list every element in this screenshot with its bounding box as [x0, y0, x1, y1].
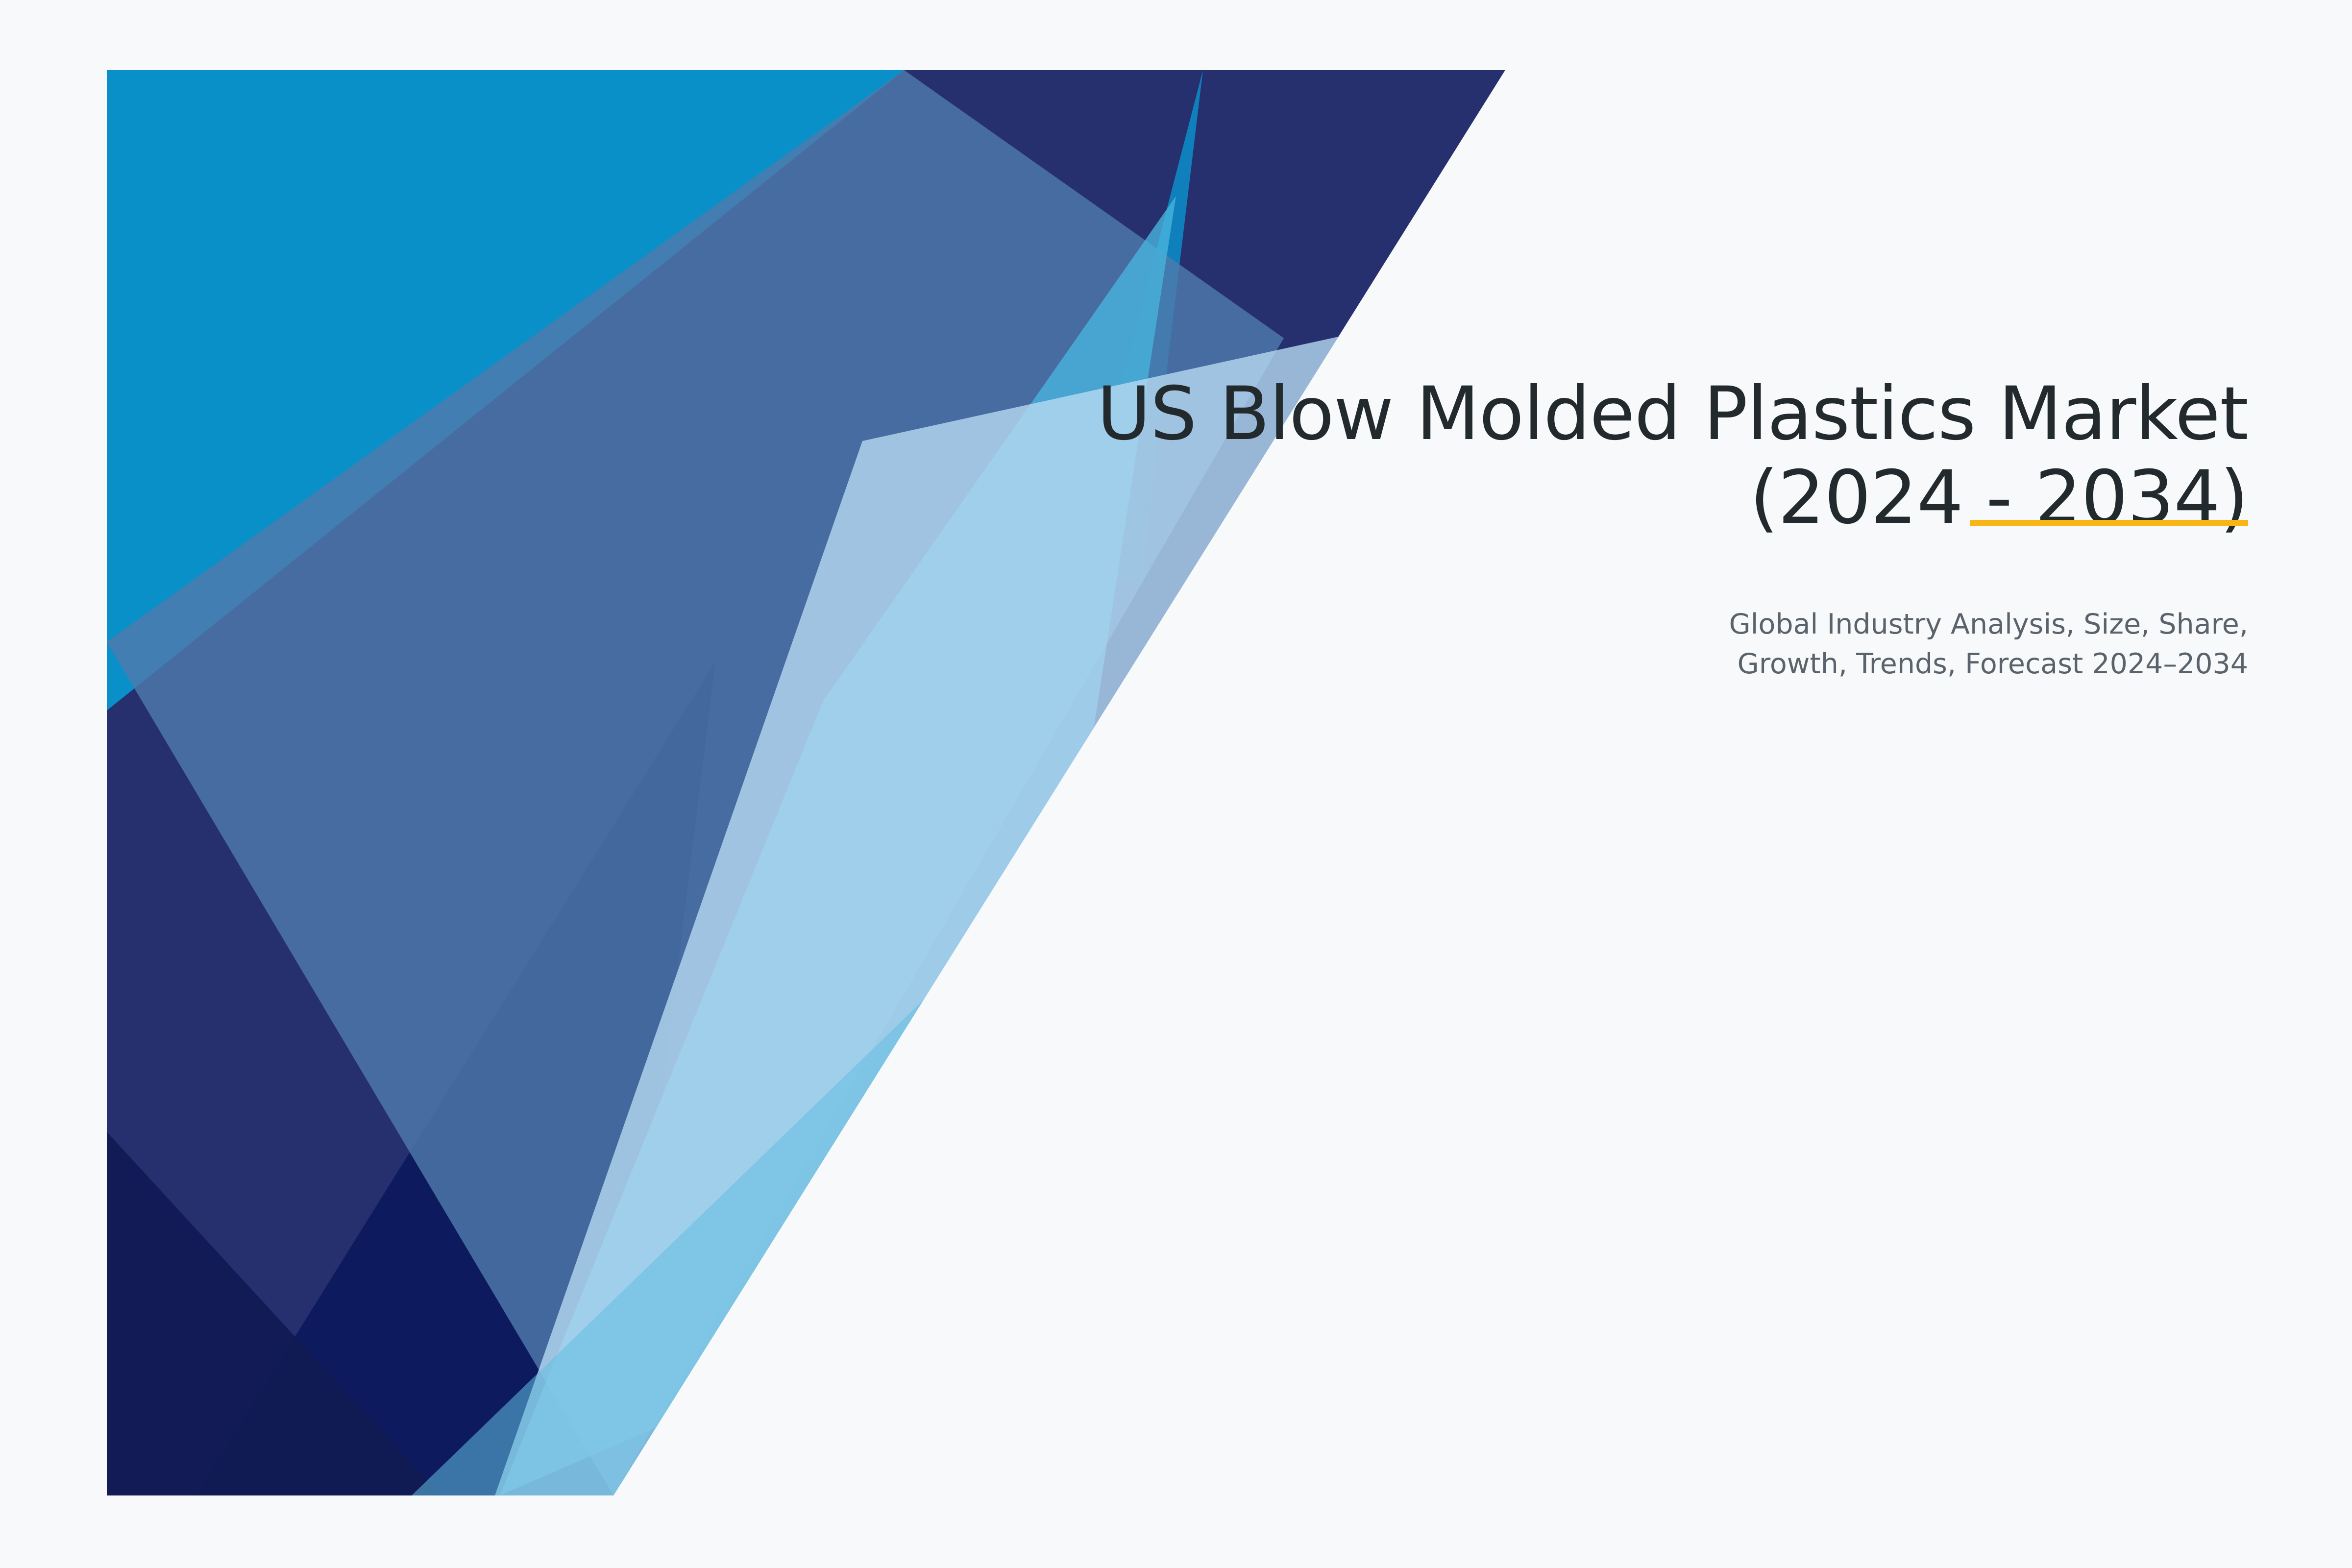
cover-artwork — [0, 0, 2352, 1568]
title-line-1: US Blow Molded Plastics Market — [964, 372, 2248, 456]
accent-underline — [1970, 520, 2248, 526]
subtitle-line-2: Growth, Trends, Forecast 2024–2034 — [964, 644, 2248, 684]
page-subtitle: Global Industry Analysis, Size, Share, G… — [964, 605, 2248, 684]
cover-text-block: US Blow Molded Plastics Market (2024 - 2… — [964, 372, 2248, 684]
shape-sky-sliver — [412, 931, 995, 1495]
shape-cyan-top-left — [107, 70, 904, 710]
shape-slate-quad — [107, 70, 1284, 1495]
shape-deep-navy-wedge — [196, 661, 715, 1495]
shape-deep-navy-lower — [107, 1132, 441, 1495]
title-line-2: (2024 - 2034) — [964, 456, 2248, 540]
page-title: US Blow Molded Plastics Market (2024 - 2… — [964, 372, 2248, 540]
shape-navy-base — [107, 70, 1505, 1495]
subtitle-line-1: Global Industry Analysis, Size, Share, — [964, 605, 2248, 644]
report-cover: US Blow Molded Plastics Market (2024 - 2… — [0, 0, 2352, 1568]
